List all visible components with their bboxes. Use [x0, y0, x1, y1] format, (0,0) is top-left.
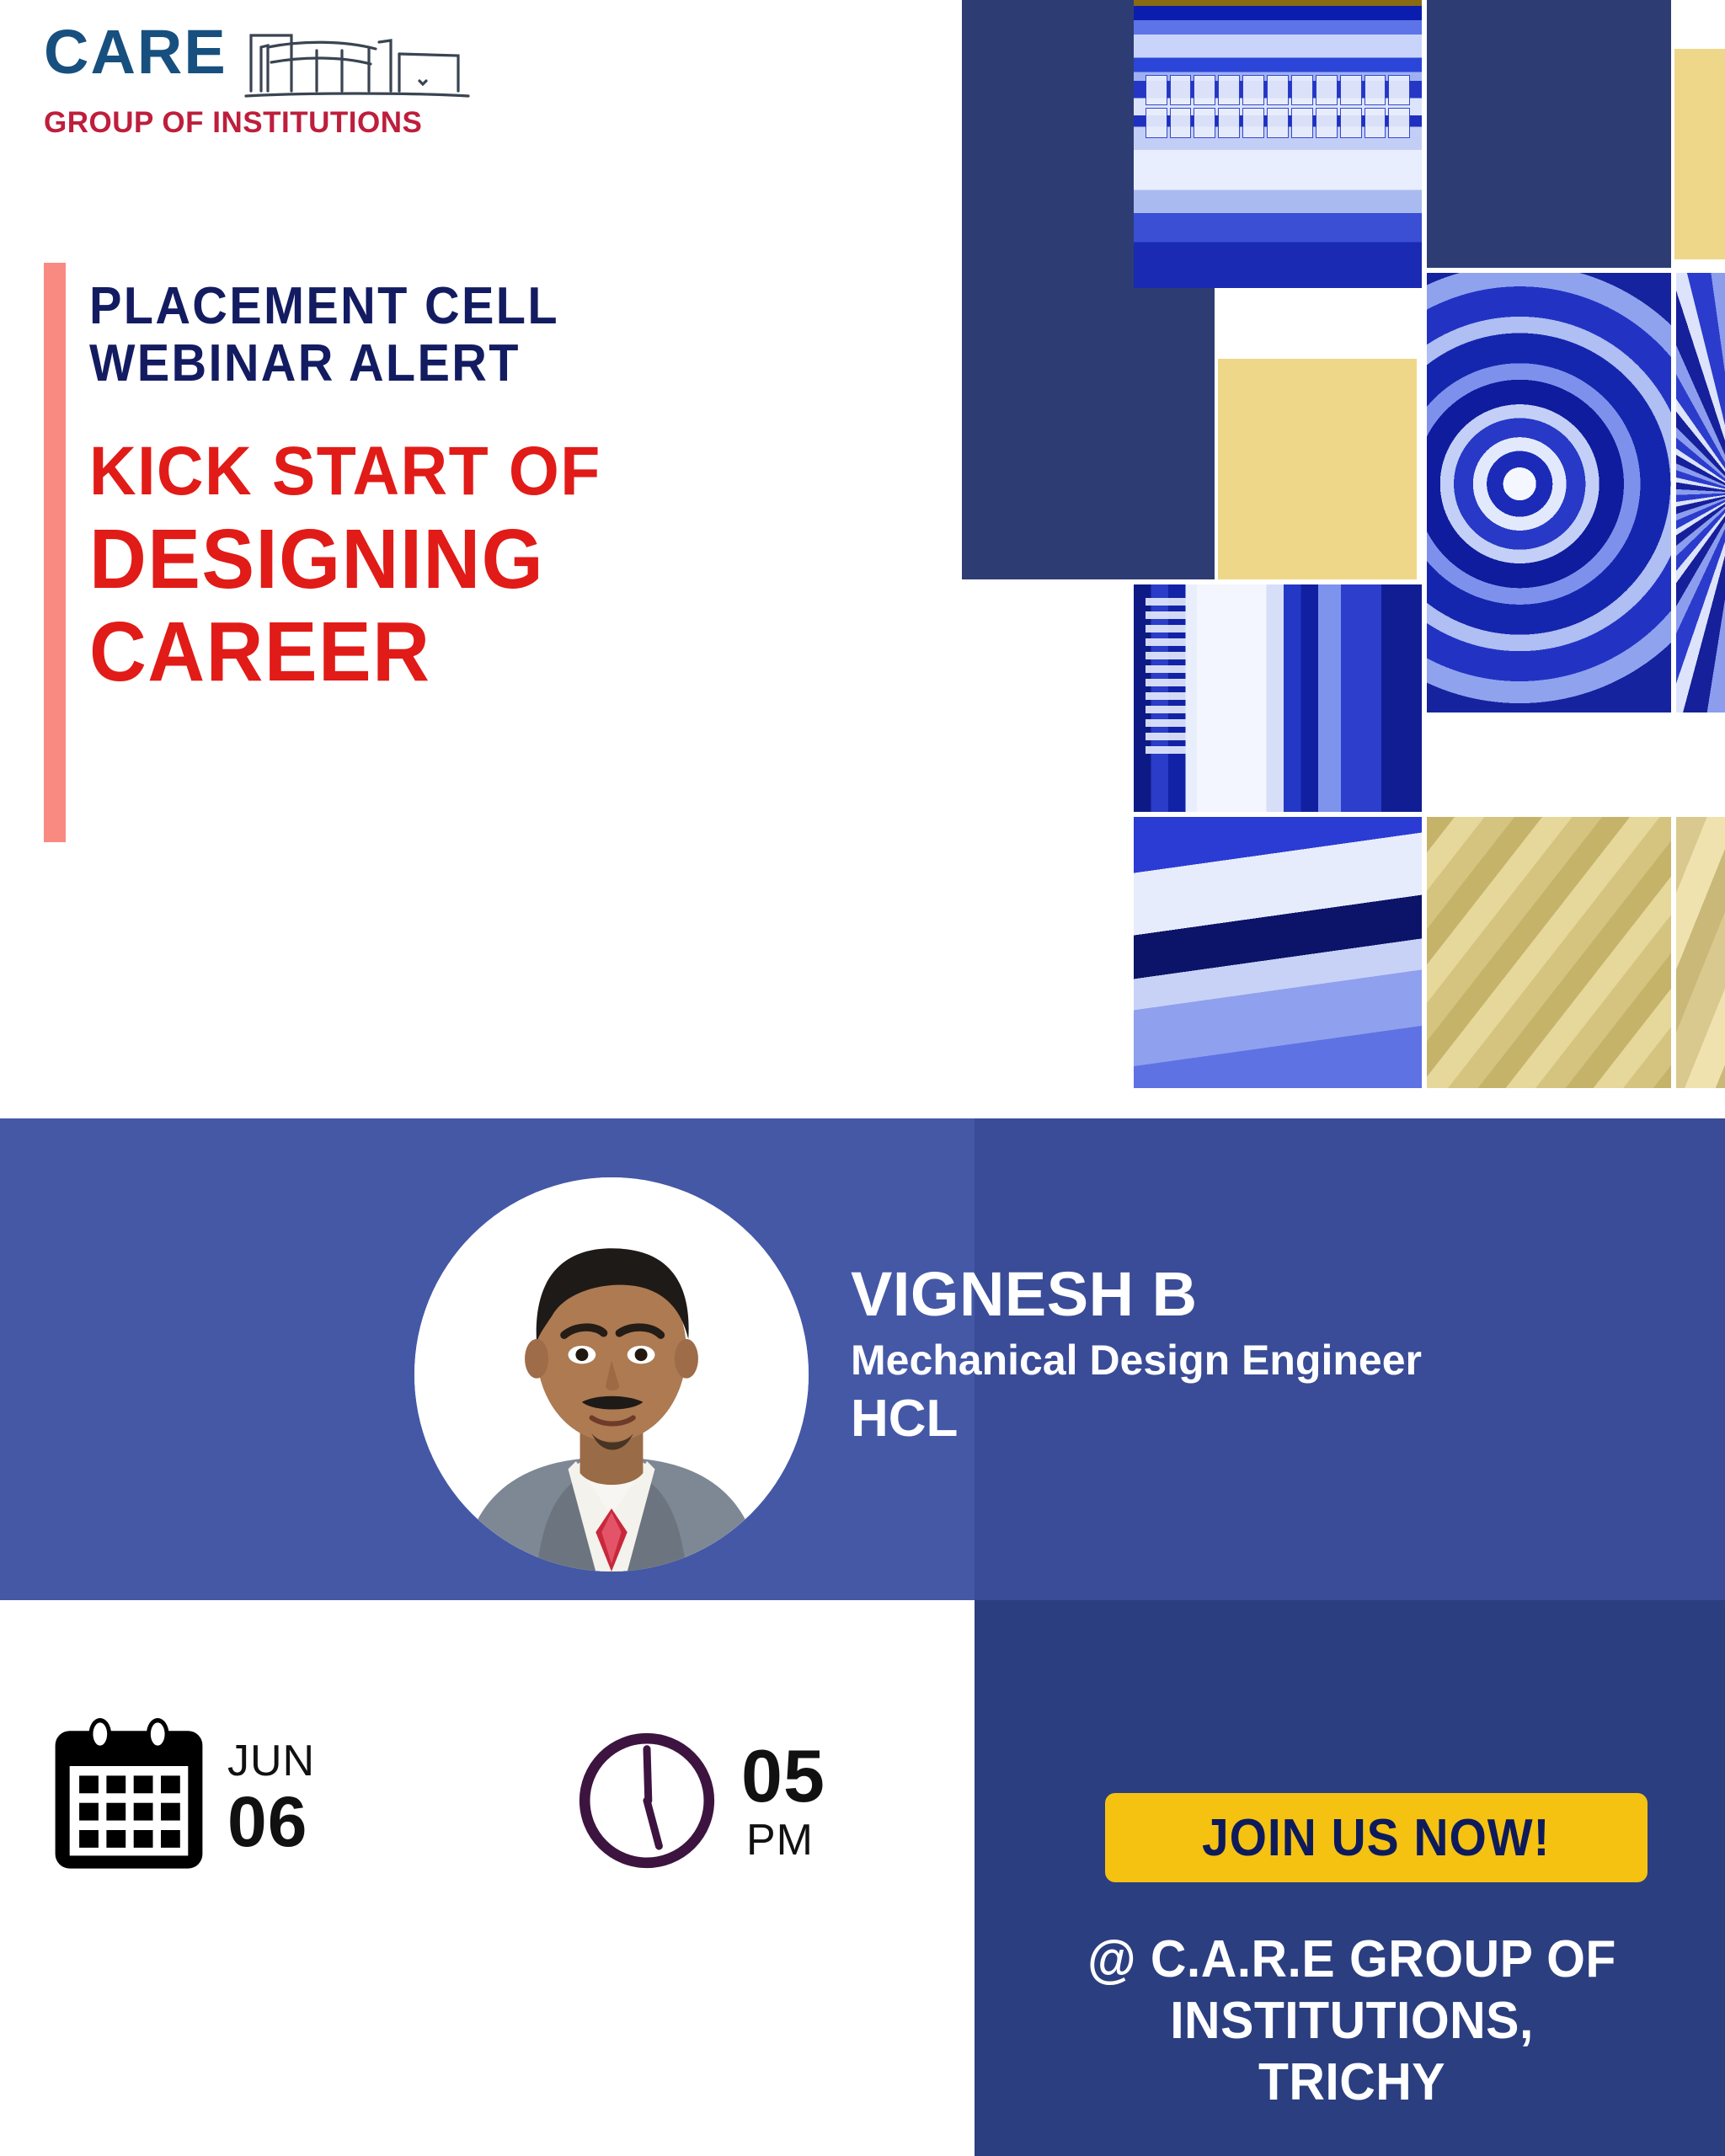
poster-canvas: CARE GROUP OF INSTITUTIONS — [0, 0, 1725, 2156]
join-us-button[interactable]: JOIN US NOW! — [1105, 1793, 1648, 1882]
title-line-1: KICK START OF — [89, 435, 739, 510]
time-meridiem: PM — [746, 1818, 825, 1862]
venue-line-1: @ C.A.R.E GROUP OF — [1028, 1929, 1676, 1990]
time-labels: 05 PM — [741, 1739, 825, 1862]
time-hour: 05 — [741, 1739, 825, 1813]
calendar-icon — [49, 1718, 209, 1878]
image-collage — [962, 0, 1725, 1110]
rotor-photo — [1676, 273, 1725, 712]
kicker-line-2: WEBINAR ALERT — [89, 335, 732, 392]
building-sketch-icon — [243, 29, 472, 101]
event-datetime: JUN 06 05 PM — [49, 1718, 891, 1912]
title-line-3: CAREER — [89, 607, 739, 696]
cad-toolbar-photo — [1134, 0, 1422, 288]
gold-machine-photo-b — [1676, 817, 1725, 1088]
speaker-portrait-illustration — [414, 1177, 809, 1572]
date-day: 06 — [227, 1786, 315, 1857]
venue-line-3: TRICHY — [1028, 2052, 1676, 2113]
date-month: JUN — [227, 1739, 315, 1783]
clock-icon — [571, 1725, 723, 1876]
cad-screen-lines — [1146, 598, 1192, 798]
event-date: JUN 06 — [49, 1718, 315, 1878]
gold-machine-photo-a — [1427, 817, 1671, 1088]
speaker-details: VIGNESH B Mechanical Design Engineer HCL — [851, 1263, 1693, 1446]
gear-assembly-photo — [1427, 273, 1671, 712]
navy-block-top — [1427, 0, 1671, 268]
brand-logo: CARE GROUP OF INSTITUTIONS — [44, 24, 549, 141]
venue-line-2: INSTITUTIONS, — [1028, 1990, 1676, 2052]
logo-tagline: GROUP OF INSTITUTIONS — [44, 106, 549, 140]
event-time: 05 PM — [571, 1725, 825, 1876]
cream-block-mid — [1218, 359, 1417, 579]
avatar — [414, 1177, 809, 1572]
speaker-role: Mechanical Design Engineer — [851, 1337, 1693, 1383]
date-labels: JUN 06 — [227, 1739, 315, 1857]
blue-machine-photo — [1134, 817, 1422, 1088]
venue-address: @ C.A.R.E GROUP OF INSTITUTIONS, TRICHY — [1011, 1929, 1693, 2113]
speaker-name: VIGNESH B — [851, 1263, 1693, 1326]
logo-top-row: CARE — [44, 24, 549, 101]
headline-block: PLACEMENT CELL WEBINAR ALERT KICK START … — [89, 278, 780, 696]
headline-accent-bar — [44, 263, 66, 842]
title-line-2: DESIGNING — [89, 515, 739, 604]
speaker-organization: HCL — [851, 1391, 1693, 1446]
cream-block-top-right — [1674, 49, 1725, 259]
kicker-line-1: PLACEMENT CELL — [89, 278, 732, 335]
logo-wordmark: CARE — [44, 24, 227, 81]
cad-toolbar-icons — [1146, 75, 1411, 138]
join-us-button-label: JOIN US NOW! — [1202, 1808, 1550, 1868]
cad-screen-photo — [1134, 584, 1422, 812]
